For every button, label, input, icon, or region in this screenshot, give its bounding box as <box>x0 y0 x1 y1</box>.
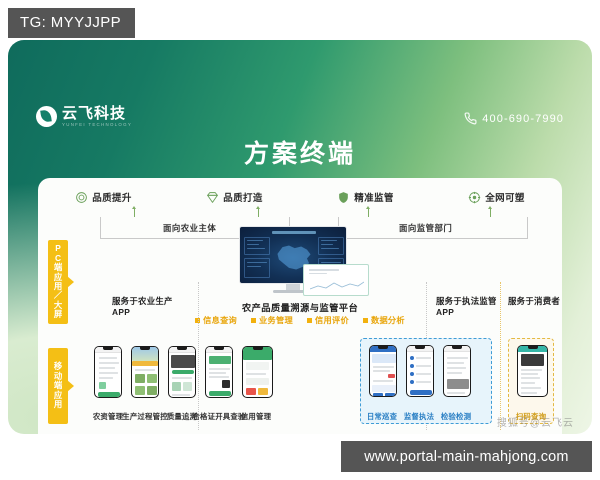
phone-notch <box>415 346 425 349</box>
poster-header: 云飞科技 YUNFEI TECHNOLOGY 400-690-7990 方案终端 <box>8 40 592 186</box>
platform-tag-label: 数据分析 <box>371 314 405 326</box>
platform-tag[interactable]: 数据分析 <box>363 314 405 326</box>
phone-label: 监督执法 <box>404 411 434 422</box>
phone-label: 信用管理 <box>241 411 271 422</box>
phone-notch <box>452 346 462 349</box>
watermark: 搜狐号@云飞云 <box>497 414 574 429</box>
phone-mockup-item[interactable] <box>369 345 397 397</box>
phone-label: 农资管理 <box>93 411 123 422</box>
network-target-icon <box>468 191 481 204</box>
feature-label: 品质打造 <box>223 190 263 204</box>
flow-label-agriculture: 面向农业主体 <box>158 222 221 234</box>
phone-mockup <box>242 346 273 398</box>
shield-icon <box>337 191 350 204</box>
phone-mockup <box>443 345 471 397</box>
phone-notch <box>214 347 224 350</box>
tg-overlay-tag: TG: MYYJJPP <box>8 8 135 38</box>
phone-screen <box>206 347 232 397</box>
phone-mockup <box>94 346 122 398</box>
phone-mockup <box>369 345 397 397</box>
screenshot-root: 云飞科技 YUNFEI TECHNOLOGY 400-690-7990 方案终端 <box>0 0 600 480</box>
phone-screen <box>243 347 272 397</box>
phone-screen <box>169 347 195 397</box>
side-tab-char: 屏 <box>54 310 62 319</box>
phone-notch <box>378 346 388 349</box>
role-label-consumer: 服务于消费者 <box>508 296 568 307</box>
phone-group-green <box>94 346 273 398</box>
poster-card: 云飞科技 YUNFEI TECHNOLOGY 400-690-7990 方案终端 <box>8 40 592 434</box>
square-bullet-icon <box>307 318 312 323</box>
role-label-production: 服务于农业生产 APP <box>112 296 192 319</box>
flow-tick <box>368 208 369 217</box>
phone-screen <box>444 346 470 396</box>
role-label-enforcement: 服务于执法监管 APP <box>436 296 508 319</box>
phone-group-yellow <box>517 345 548 397</box>
flow-label-regulator: 面向监管部门 <box>394 222 457 234</box>
phone-mockup-item[interactable] <box>205 346 233 398</box>
diamond-icon <box>206 191 219 204</box>
phone-mockup <box>168 346 196 398</box>
brand-logo: 云飞科技 YUNFEI TECHNOLOGY <box>36 106 132 127</box>
phone-label: 生产过程管控 <box>122 411 168 422</box>
phone-mockup <box>205 346 233 398</box>
phone-number: 400-690-7990 <box>482 113 564 125</box>
flow-tick <box>490 208 491 217</box>
logo-name-en: YUNFEI TECHNOLOGY <box>62 123 132 127</box>
phone-notch <box>177 347 187 350</box>
leaf-logo-icon <box>36 106 57 127</box>
phone-label: 检验检测 <box>441 411 471 422</box>
phone-mockup-item[interactable] <box>443 345 471 397</box>
platform-tag-label: 业务管理 <box>259 314 293 326</box>
feature-item-precise-supervision[interactable]: 精准监管 <box>337 190 394 204</box>
phone-screen <box>95 347 121 397</box>
phone-label: 日常巡查 <box>367 411 397 422</box>
divider <box>500 282 501 430</box>
logo-text: 云飞科技 YUNFEI TECHNOLOGY <box>62 106 132 127</box>
sparkline-chart-icon <box>310 281 364 291</box>
phone-mockup-item[interactable] <box>517 345 548 397</box>
panel-line <box>309 273 327 274</box>
phone-notch <box>253 347 263 350</box>
phone-screen <box>518 346 547 396</box>
flow-tick <box>258 208 259 217</box>
panel-line <box>309 269 339 271</box>
square-bullet-icon <box>251 318 256 323</box>
platform-tag-label: 信用评价 <box>315 314 349 326</box>
feature-item-quality-build[interactable]: 品质打造 <box>206 190 263 204</box>
secondary-screen-panel <box>303 264 369 296</box>
sidebar-item-pc-application[interactable]: P C 端 应 用 ／ 大 屏 <box>48 240 68 324</box>
feature-item-network-shapeable[interactable]: 全网可塑 <box>468 190 525 204</box>
platform-tag[interactable]: 信息查询 <box>195 314 237 326</box>
diagram-panel: 品质提升 品质打造 精准监管 <box>38 178 562 434</box>
logo-name-cn: 云飞科技 <box>62 106 132 121</box>
square-bullet-icon <box>363 318 368 323</box>
phone-mockup-item[interactable] <box>168 346 196 398</box>
phone-mockup <box>131 346 159 398</box>
phone-mockup-item[interactable] <box>242 346 273 398</box>
dashboard-title-bar <box>272 231 316 234</box>
phone-mockup-item[interactable] <box>94 346 122 398</box>
url-overlay-bar: www.portal-main-mahjong.com <box>341 441 592 472</box>
phone-notch <box>103 347 113 350</box>
page-title: 方案终端 <box>8 134 592 170</box>
feature-label: 全网可塑 <box>485 190 525 204</box>
phone-mockup <box>517 345 548 397</box>
phone-group-blue <box>369 345 471 397</box>
phone-notch <box>528 346 538 349</box>
quality-gear-icon <box>75 191 88 204</box>
platform-tag[interactable]: 业务管理 <box>251 314 293 326</box>
feature-label: 品质提升 <box>92 190 132 204</box>
phone-mockup-item[interactable] <box>406 345 434 397</box>
feature-row: 品质提升 品质打造 精准监管 <box>38 190 562 204</box>
phone-icon <box>464 112 477 125</box>
dashboard-widget <box>244 258 270 278</box>
sidebar-item-mobile-application[interactable]: 移 动 端 应 用 <box>48 348 68 424</box>
phone-screen <box>370 346 396 396</box>
phone-mockup-item[interactable] <box>131 346 159 398</box>
phone-label-row-green: 农资管理 生产过程管控 质量追溯 合格证开具查验 信用管理 <box>94 406 270 422</box>
platform-visual <box>231 226 381 300</box>
side-tab-char: 用 <box>54 400 62 409</box>
phone-label-row-blue: 日常巡查 监督执法 检验检测 <box>368 406 470 422</box>
contact-phone[interactable]: 400-690-7990 <box>464 112 564 125</box>
feature-item-quality-improve[interactable]: 品质提升 <box>75 190 132 204</box>
flow-tick <box>134 208 135 217</box>
platform-tag[interactable]: 信用评价 <box>307 314 349 326</box>
platform-tag-label: 信息查询 <box>203 314 237 326</box>
phone-screen <box>407 346 433 396</box>
feature-label: 精准监管 <box>354 190 394 204</box>
phone-notch <box>140 347 150 350</box>
phone-screen <box>132 347 158 397</box>
phone-mockup <box>406 345 434 397</box>
phone-label: 合格证开具查验 <box>192 411 245 422</box>
